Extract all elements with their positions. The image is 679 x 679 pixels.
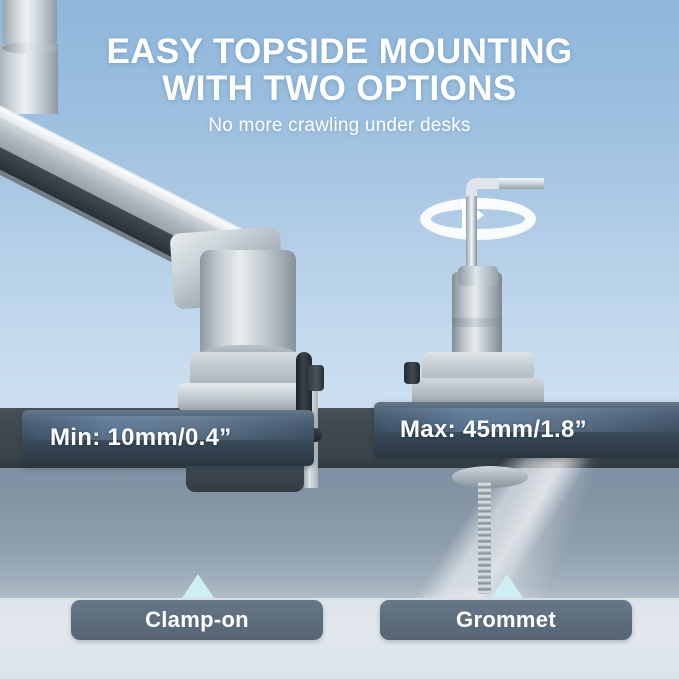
option-pill-clamp-on[interactable]: Clamp-on	[71, 600, 323, 640]
option-label-grommet: Grommet	[456, 607, 556, 633]
hex-key-shaft	[466, 196, 477, 276]
option-pill-grommet[interactable]: Grommet	[380, 600, 632, 640]
max-thickness-label: Max: 45mm/1.8”	[400, 416, 587, 444]
grommet-post-ring	[452, 318, 502, 327]
clamp-lever-knob	[306, 365, 324, 391]
grommet-side-knob	[404, 362, 420, 384]
pointer-triangle-grommet-icon	[491, 574, 523, 598]
grommet-threaded-bolt	[478, 482, 491, 594]
arm-top-cylinder	[3, 0, 57, 48]
product-infographic: EASY TOPSIDE MOUNTING WITH TWO OPTIONS N…	[0, 0, 679, 679]
min-thickness-label: Min: 10mm/0.4”	[50, 424, 232, 452]
pointer-triangle-clamp-icon	[182, 574, 214, 598]
max-thickness-plate: Max: 45mm/1.8”	[374, 402, 679, 458]
headline-line-1: EASY TOPSIDE MOUNTING	[106, 32, 572, 71]
option-label-clamp-on: Clamp-on	[145, 607, 249, 633]
clamp-top-shelf	[178, 383, 312, 411]
headline-line-2: WITH TWO OPTIONS	[0, 70, 679, 107]
arm-cylinder-lip	[2, 42, 58, 54]
grommet-collar	[458, 266, 498, 286]
min-thickness-plate: Min: 10mm/0.4”	[22, 410, 314, 466]
headline: EASY TOPSIDE MOUNTING WITH TWO OPTIONS	[0, 33, 679, 107]
arm-upper-shaft	[0, 44, 58, 114]
subtitle: No more crawling under desks	[0, 115, 679, 137]
